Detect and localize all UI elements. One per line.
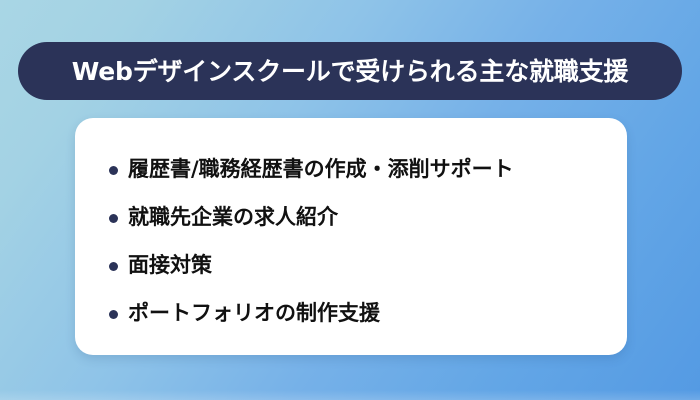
bullet-dot-icon (109, 166, 118, 175)
list-item-label: 面接対策 (128, 253, 212, 278)
list-item: 履歴書/職務経歴書の作成・添削サポート (109, 146, 593, 194)
bullet-dot-icon (109, 310, 118, 319)
bullet-dot-icon (109, 214, 118, 223)
list-item: 就職先企業の求人紹介 (109, 194, 593, 242)
bullet-dot-icon (109, 262, 118, 271)
support-list: 履歴書/職務経歴書の作成・添削サポート 就職先企業の求人紹介 面接対策 ポートフ… (109, 146, 593, 333)
list-item: 面接対策 (109, 242, 593, 290)
support-list-card: 履歴書/職務経歴書の作成・添削サポート 就職先企業の求人紹介 面接対策 ポートフ… (75, 118, 627, 355)
list-item-label: 就職先企業の求人紹介 (128, 205, 338, 230)
list-item: ポートフォリオの制作支援 (109, 290, 593, 338)
title-banner: Webデザインスクールで受けられる主な就職支援 (18, 42, 682, 100)
page-title: Webデザインスクールで受けられる主な就職支援 (72, 59, 628, 84)
list-item-label: ポートフォリオの制作支援 (128, 301, 380, 326)
infographic-canvas: Webデザインスクールで受けられる主な就職支援 履歴書/職務経歴書の作成・添削サ… (0, 0, 700, 400)
list-item-label: 履歴書/職務経歴書の作成・添削サポート (128, 157, 514, 182)
